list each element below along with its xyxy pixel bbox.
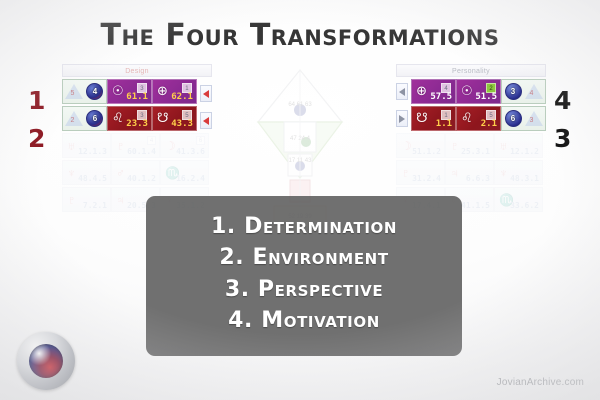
gate-value: 61.1: [126, 92, 148, 102]
gate-value: 23.3: [126, 119, 148, 129]
personality-row-2-cell-2[interactable]: ♌ 5 2.1: [456, 106, 501, 131]
personality-row-1-glyph-cell[interactable]: 3 4: [501, 79, 546, 104]
leo-icon: ♌: [112, 112, 124, 125]
design-row-2-cell-1[interactable]: ♌ 3 23.3: [107, 106, 152, 131]
gate-value: 40.1.2: [127, 174, 156, 183]
gate-value: 33.6.2: [510, 201, 539, 210]
planet-icon: ♇: [450, 139, 459, 153]
overlay-item-perspective: 3. Perspective: [225, 275, 383, 305]
gate-value: 48.3.1: [510, 174, 539, 183]
mars-icon: ♂: [116, 166, 125, 180]
planet-icon: ♇: [401, 166, 410, 180]
gate-value: 25.3.1: [461, 147, 490, 156]
gate-value: 41.1.5: [461, 201, 490, 210]
earth-icon: ⊕: [416, 85, 427, 98]
table-cell: ♇ 25.3.1: [445, 133, 494, 158]
personality-row-2-cell-1[interactable]: ☋ 1 1.1: [411, 106, 456, 131]
planet-icon: ♇: [67, 193, 76, 207]
design-row-2-glyph-cell[interactable]: 2 6: [62, 106, 107, 131]
sun-icon: ☉: [112, 85, 124, 98]
logo-ring: [17, 332, 75, 390]
design-faded-row-1: ♅ 12.1.3 ♇ 4 60.1.4 ☽ 6 41.3.6: [62, 133, 212, 158]
personality-panel: Personality ⊕ 4 57.5 ☉ 2 51.5 3 4: [396, 64, 546, 212]
personality-row-1[interactable]: ⊕ 4 57.5 ☉ 2 51.5 3 4: [396, 79, 546, 104]
line-badge: 4: [147, 136, 156, 145]
personality-row-1-arrow-button[interactable]: [396, 83, 408, 100]
gate-value: 16.2.4: [176, 174, 205, 183]
gate-value: 62.1: [171, 92, 193, 102]
page-title: The Four Transformations: [0, 18, 600, 53]
personality-faded-row-2: ♇ 31.2.4 ♃ 6.6.3 ♆ 48.3.1: [396, 160, 546, 185]
slide-canvas: 64 61 63 47 24 4 17 11 43 52 19 39 The F…: [0, 0, 600, 400]
design-row-2-arrow-button[interactable]: [200, 112, 212, 129]
gate-value: 41.3.6: [176, 147, 205, 156]
table-cell: ♅ 12.1.2: [494, 133, 543, 158]
table-cell: ☽ 51.1.2: [396, 133, 445, 158]
planet-orb-icon: 6: [86, 110, 103, 127]
gate-value: 1.1: [436, 119, 452, 129]
index-numeral-3: 3: [554, 126, 571, 151]
line-badge: 6: [196, 136, 205, 145]
table-cell: ♏ 16.2.4: [160, 160, 209, 185]
arrow-left-icon: [203, 90, 209, 98]
table-cell: ♅ 12.1.3: [62, 133, 111, 158]
arrow-left-icon: [399, 88, 405, 96]
footer-website: JovianArchive.com: [497, 377, 584, 388]
personality-row-1-cell-1[interactable]: ⊕ 4 57.5: [411, 79, 456, 104]
table-cell: ♇ 7.2.1: [62, 187, 111, 212]
moon-icon: ☽: [401, 139, 412, 153]
table-cell: ♏ 33.6.2: [494, 187, 543, 212]
jupiter-icon: ♃: [116, 193, 125, 207]
personality-row-2[interactable]: ☋ 1 1.1 ♌ 5 2.1 6 3: [396, 106, 546, 131]
gate-value: 60.1.4: [127, 147, 156, 156]
planet-orb-icon: 6: [505, 110, 522, 127]
triangle-icon: 5: [65, 84, 83, 99]
planet-icon: ♆: [67, 166, 76, 180]
planet-icon: ♅: [67, 139, 76, 153]
overlay-item-motivation: 4. Motivation: [228, 306, 380, 336]
sun-icon: ☉: [461, 85, 473, 98]
arrow-left-icon: [203, 117, 209, 125]
triangle-icon: 3: [525, 111, 543, 126]
design-panel-header: Design: [62, 64, 212, 77]
table-cell: ☽ 6 41.3.6: [160, 133, 209, 158]
index-numeral-1: 1: [28, 88, 45, 113]
gate-value: 51.5: [475, 92, 497, 102]
gate-value: 43.3: [171, 119, 193, 129]
design-row-1-cell-1[interactable]: ☉ 3 61.1: [107, 79, 152, 104]
gate-value: 7.2.1: [83, 201, 107, 210]
jovian-archive-logo: [17, 332, 75, 390]
gate-value: 12.1.2: [510, 147, 539, 156]
personality-row-2-glyph-cell[interactable]: 6 3: [501, 106, 546, 131]
table-cell: ♃ 6.6.3: [445, 160, 494, 185]
triangle-label: 2: [70, 117, 74, 124]
design-row-1-cell-2[interactable]: ⊕ 1 62.1: [152, 79, 197, 104]
table-cell: ♆ 48.4.5: [62, 160, 111, 185]
planet-icon: ♇: [116, 139, 125, 153]
design-faded-row-2: ♆ 48.4.5 ♂ 40.1.2 ♏ 16.2.4: [62, 160, 212, 185]
leo-icon: ♌: [461, 112, 473, 125]
table-cell: ♂ 40.1.2: [111, 160, 160, 185]
personality-panel-header: Personality: [396, 64, 546, 77]
triangle-icon: 4: [525, 84, 543, 99]
gate-value: 31.2.4: [412, 174, 441, 183]
planet-orb-icon: 3: [505, 83, 522, 100]
table-cell: ♆ 48.3.1: [494, 160, 543, 185]
triangle-label: 5: [70, 90, 74, 97]
gate-value: 12.1.3: [78, 147, 107, 156]
gate-value: 48.4.5: [78, 174, 107, 183]
overlay-item-determination: 1. Determination: [211, 212, 397, 242]
design-row-2-cell-2[interactable]: ☋ 5 43.3: [152, 106, 197, 131]
design-row-1-glyph-cell[interactable]: 5 4: [62, 79, 107, 104]
gate-value: 57.5: [430, 92, 452, 102]
triangle-label: 4: [530, 90, 534, 97]
index-numeral-2: 2: [28, 126, 45, 151]
design-row-1[interactable]: 5 4 ☉ 3 61.1 ⊕ 1 62.1: [62, 79, 212, 104]
triangle-label: 3: [530, 117, 534, 124]
arrow-right-icon: [399, 115, 405, 123]
table-cell: ♇ 4 60.1.4: [111, 133, 160, 158]
jupiter-icon: ♃: [450, 166, 459, 180]
transformations-overlay: 1. Determination 2. Environment 3. Persp…: [146, 196, 462, 356]
gate-value: 2.1: [481, 119, 497, 129]
design-row-1-arrow-button[interactable]: [200, 85, 212, 102]
table-cell: ♇ 31.2.4: [396, 160, 445, 185]
planet-orb-icon: 4: [86, 83, 103, 100]
gate-value: 6.6.3: [466, 174, 490, 183]
design-row-2[interactable]: 2 6 ♌ 3 23.3 ☋ 5 43.3: [62, 106, 212, 131]
moon-icon: ☽: [165, 139, 176, 153]
overlay-item-environment: 2. Environment: [219, 243, 388, 273]
node-icon: ☋: [416, 112, 428, 125]
planet-icon: ♅: [499, 139, 508, 153]
node-icon: ☋: [157, 112, 169, 125]
personality-row-1-cell-2[interactable]: ☉ 2 51.5: [456, 79, 501, 104]
neptune-icon: ♆: [499, 166, 508, 180]
triangle-icon: 2: [65, 111, 83, 126]
earth-icon: ⊕: [157, 85, 168, 98]
gate-value: 51.1.2: [412, 147, 441, 156]
personality-faded-row-1: ☽ 51.1.2 ♇ 25.3.1 ♅ 12.1.2: [396, 133, 546, 158]
design-panel: Design 5 4 ☉ 3 61.1 ⊕ 1 62.1: [62, 64, 212, 212]
index-numeral-4: 4: [554, 88, 571, 113]
personality-row-2-arrow-button[interactable]: [396, 110, 408, 127]
